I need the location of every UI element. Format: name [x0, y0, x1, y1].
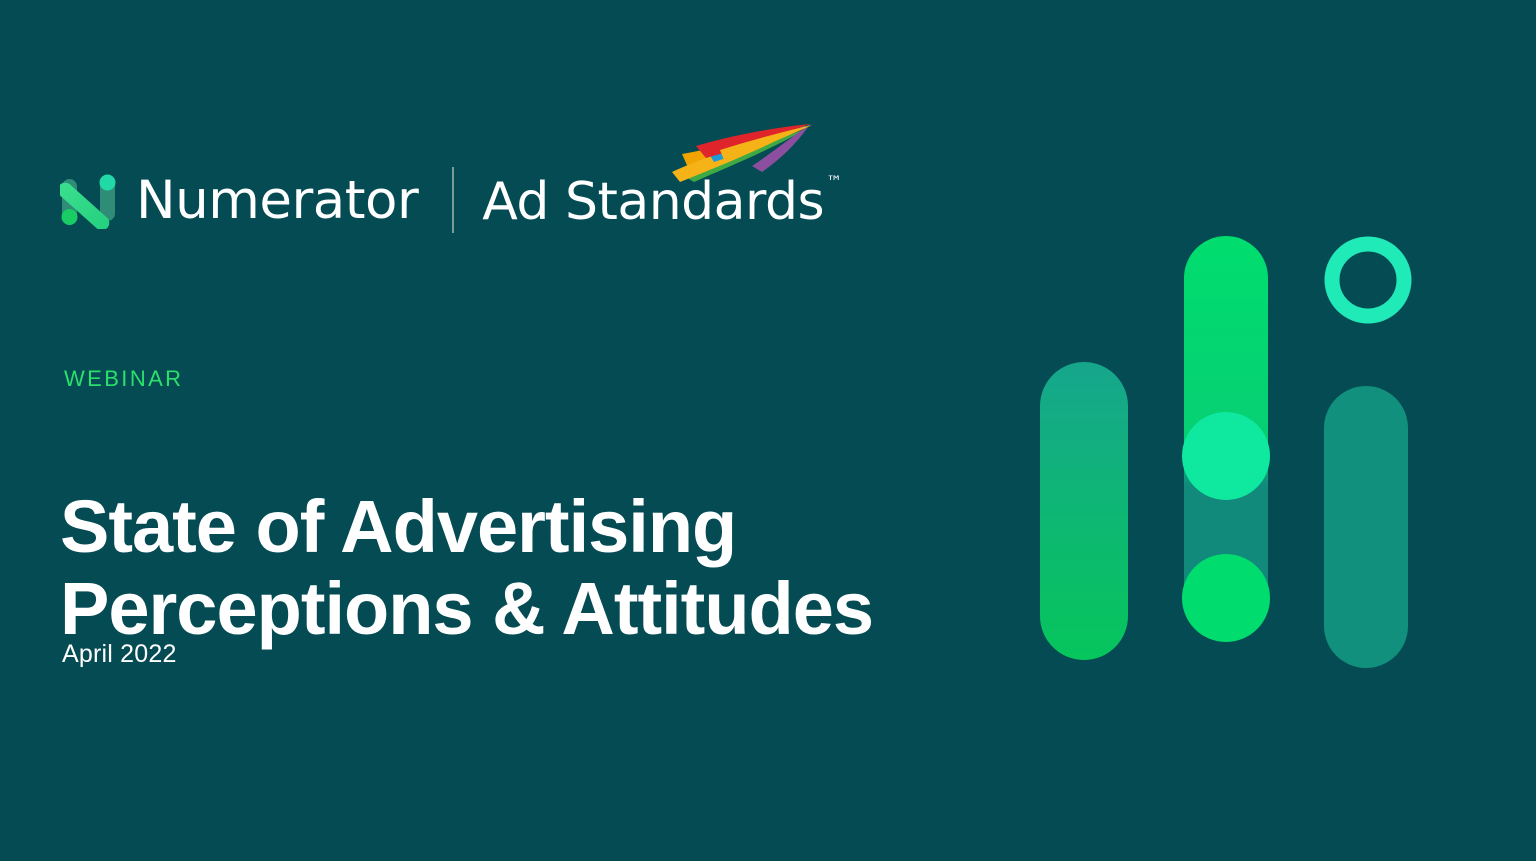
trademark-symbol: ™: [826, 172, 842, 191]
page-title: State of Advertising Perceptions & Attit…: [60, 486, 960, 650]
bar-left: [1040, 362, 1128, 660]
numerator-wordmark: Numerator: [136, 174, 418, 227]
logo-lockup: Numerator Ad Standards™: [60, 150, 840, 250]
eyebrow-label: WEBINAR: [64, 366, 183, 392]
ad-standards-logo: Ad Standards™: [482, 172, 840, 228]
ring-outline-icon: [1332, 244, 1404, 316]
slide-date: April 2022: [62, 640, 177, 669]
ad-standards-name: Ad Standards: [482, 172, 824, 232]
bar-right: [1324, 386, 1408, 668]
numerator-n-mark-icon: [60, 171, 118, 229]
ad-standards-wordmark: Ad Standards™: [482, 176, 840, 228]
webinar-title-slide: Numerator Ad Standards™ WEBINAR State of…: [0, 0, 1536, 861]
numerator-logo: Numerator: [60, 171, 418, 229]
decorative-bars-graphic: [1020, 220, 1440, 680]
logo-divider: [452, 167, 454, 233]
circle-mint: [1182, 412, 1270, 500]
title-line-2: Perceptions & Attitudes: [60, 567, 873, 650]
title-line-1: State of Advertising: [60, 485, 736, 568]
circle-green: [1182, 554, 1270, 642]
